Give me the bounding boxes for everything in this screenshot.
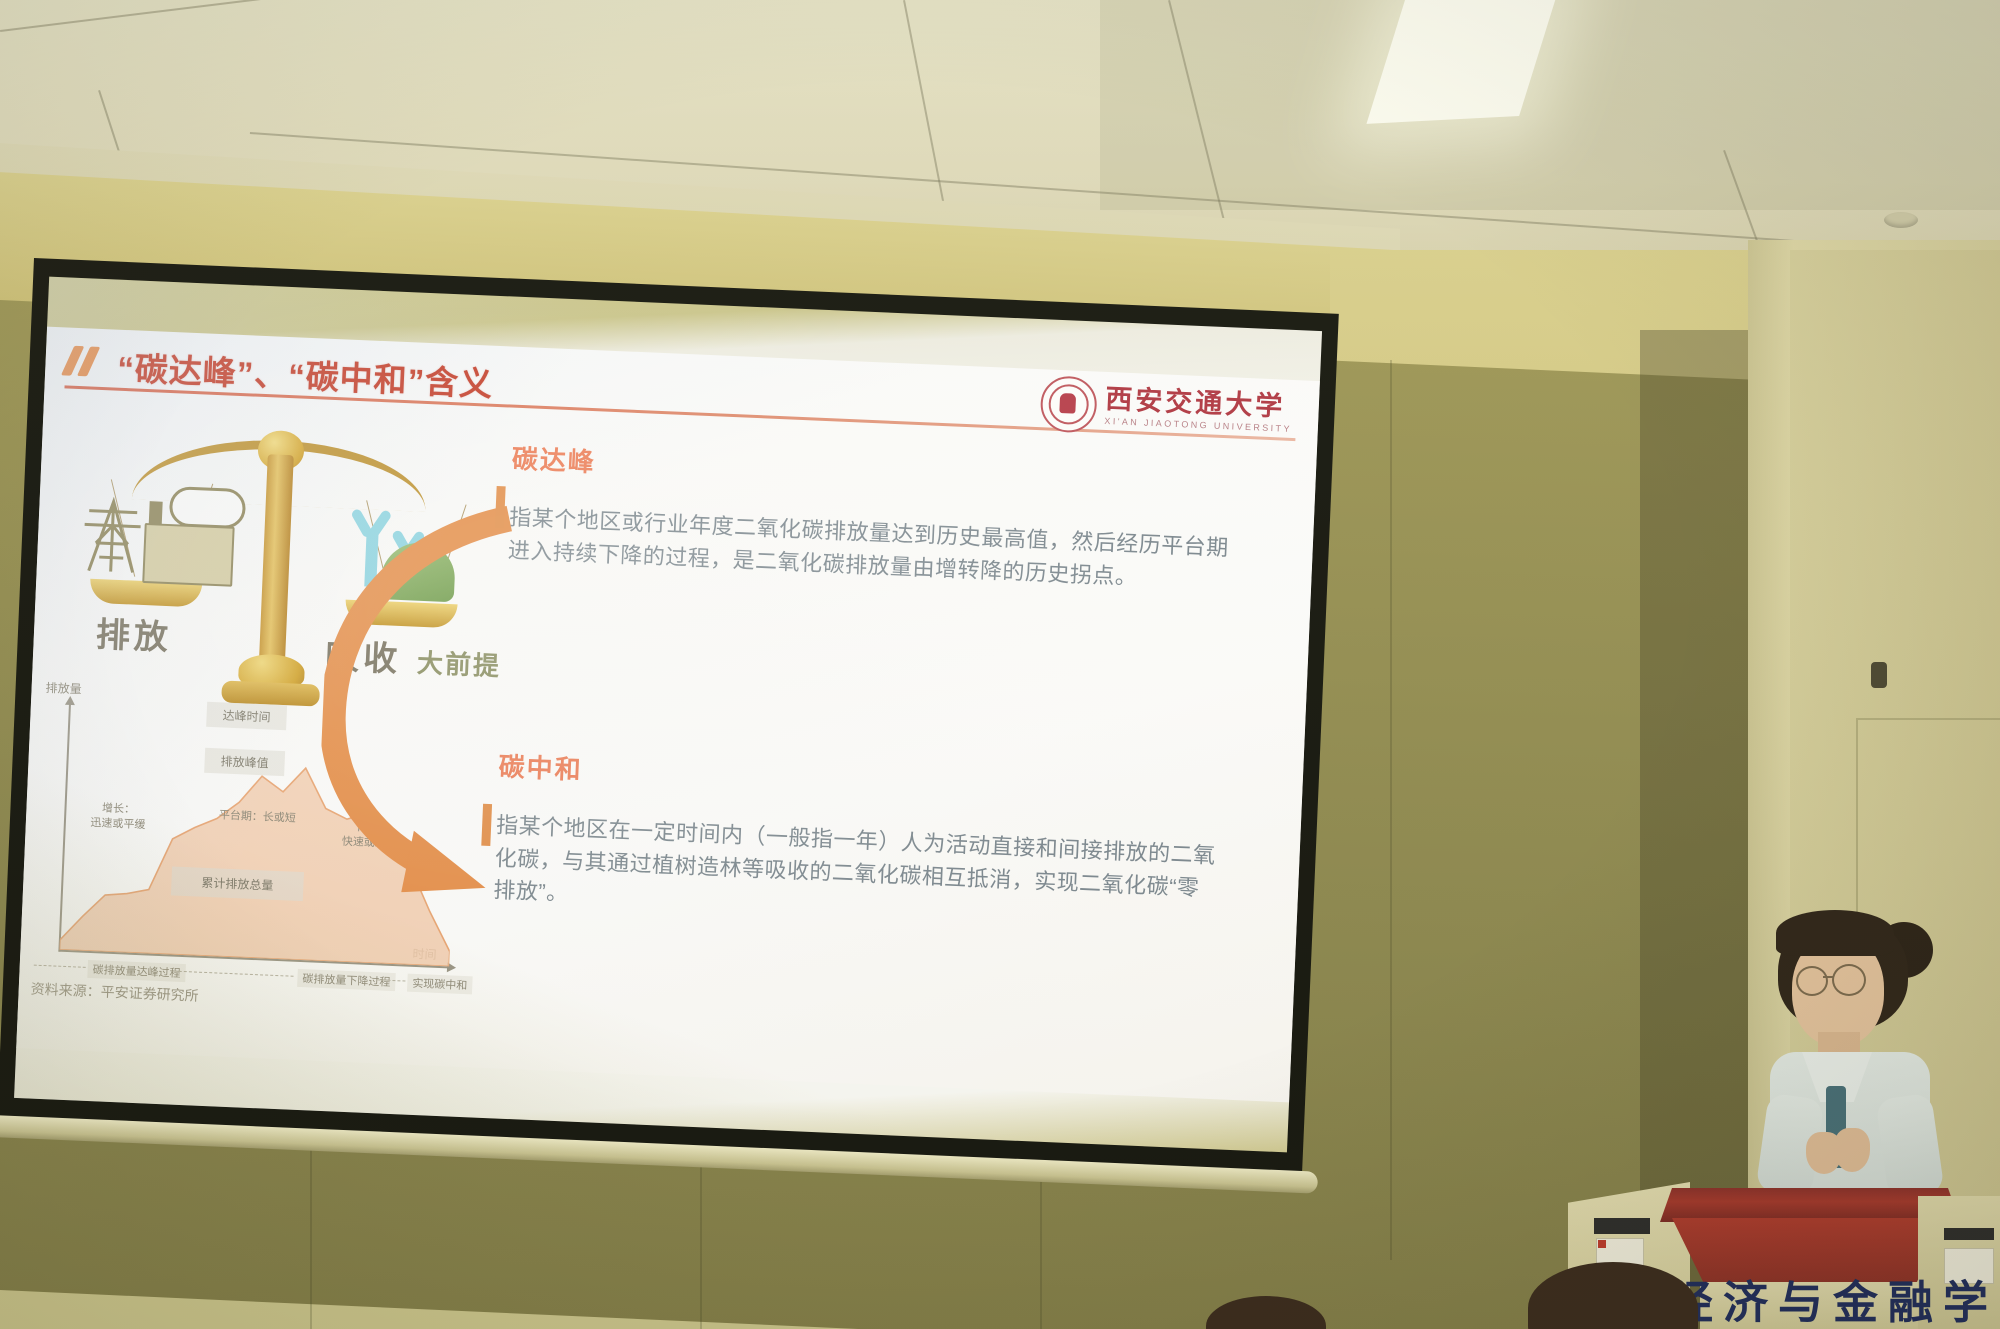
lecture-hall-photo: “碳达峰”、“碳中和”含义 西安交通大学 XI'AN JIAOTONG UNIV…: [0, 0, 2000, 1329]
wall-corner-shadow: [1640, 330, 1750, 1329]
smoke-cloud-icon: [169, 486, 247, 529]
section-body: 指某个地区在一定时间内（一般指一年）人为活动直接和间接排放的二氧化碳，与其通过植…: [493, 809, 1217, 937]
curved-arrow-icon: [315, 489, 522, 897]
chart-y-axis-label: 排放量: [45, 679, 82, 698]
section-accent-tick: [495, 486, 506, 528]
smoke-detector-icon: [1884, 212, 1918, 228]
logo-chinese-name: 西安交通大学: [1105, 386, 1294, 421]
section-accent-tick: [481, 804, 492, 846]
section-heading: 碳达峰: [511, 439, 1232, 507]
chart-phase-label-peaking: 碳排放量达峰过程: [87, 960, 186, 982]
premise-label: 大前提: [416, 643, 502, 684]
title-decoration-icon: [67, 348, 108, 376]
hair-front: [1776, 910, 1894, 956]
hand-right: [1834, 1128, 1870, 1172]
glasses-right-lens-icon: [1832, 964, 1866, 996]
chart-source-note: 资料来源：平安证券研究所: [30, 979, 199, 1006]
ceiling-tile: [1100, 0, 2000, 210]
chart-note-growth: 增长： 迅速或平缓: [72, 800, 165, 834]
chart-annotation-cumulative: 累计排放总量: [171, 866, 304, 901]
factory-icon: [142, 523, 234, 587]
podium-inscription: 经济与金融学院: [1668, 1266, 2000, 1329]
chart-annotation-peak-time: 达峰时间: [206, 702, 287, 730]
chart-phase-label-neutral: 实现碳中和: [407, 974, 473, 995]
university-seal-icon: [1040, 375, 1098, 433]
wall-seam: [1390, 360, 1392, 1260]
podium-label-dark: [1594, 1218, 1650, 1234]
section-heading: 碳中和: [498, 746, 1219, 814]
podium-desktop: [1660, 1188, 1960, 1222]
power-tower-icon: [81, 494, 148, 575]
screen-surface: “碳达峰”、“碳中和”含义 西安交通大学 XI'AN JIAOTONG UNIV…: [14, 277, 1322, 1153]
glasses-bridge-icon: [1823, 976, 1833, 978]
projected-slide: “碳达峰”、“碳中和”含义 西安交通大学 XI'AN JIAOTONG UNIV…: [16, 327, 1320, 1103]
glasses-left-lens-icon: [1796, 966, 1828, 996]
university-logo: 西安交通大学 XI'AN JIAOTONG UNIVERSITY: [1040, 375, 1294, 442]
section-carbon-peak: 碳达峰 指某个地区或行业年度二氧化碳排放量达到历史最高值，然后经历平台期进入持续…: [507, 439, 1232, 598]
podium-label-dark: [1944, 1228, 1994, 1240]
chart-annotation-peak-value: 排放峰值: [204, 748, 285, 776]
podium-label-dot: [1598, 1240, 1606, 1248]
section-carbon-neutrality: 碳中和 指某个地区在一定时间内（一般指一年）人为活动直接和间接排放的二氧化碳，与…: [493, 746, 1219, 937]
presenter: [1740, 900, 2000, 1200]
projection-screen: “碳达峰”、“碳中和”含义 西安交通大学 XI'AN JIAOTONG UNIV…: [0, 258, 1339, 1175]
section-body: 指某个地区或行业年度二氧化碳排放量达到历史最高值，然后经历平台期进入持续下降的过…: [507, 502, 1229, 598]
door-handle[interactable]: [1871, 662, 1887, 688]
scale-label-emission: 排放: [95, 607, 173, 659]
